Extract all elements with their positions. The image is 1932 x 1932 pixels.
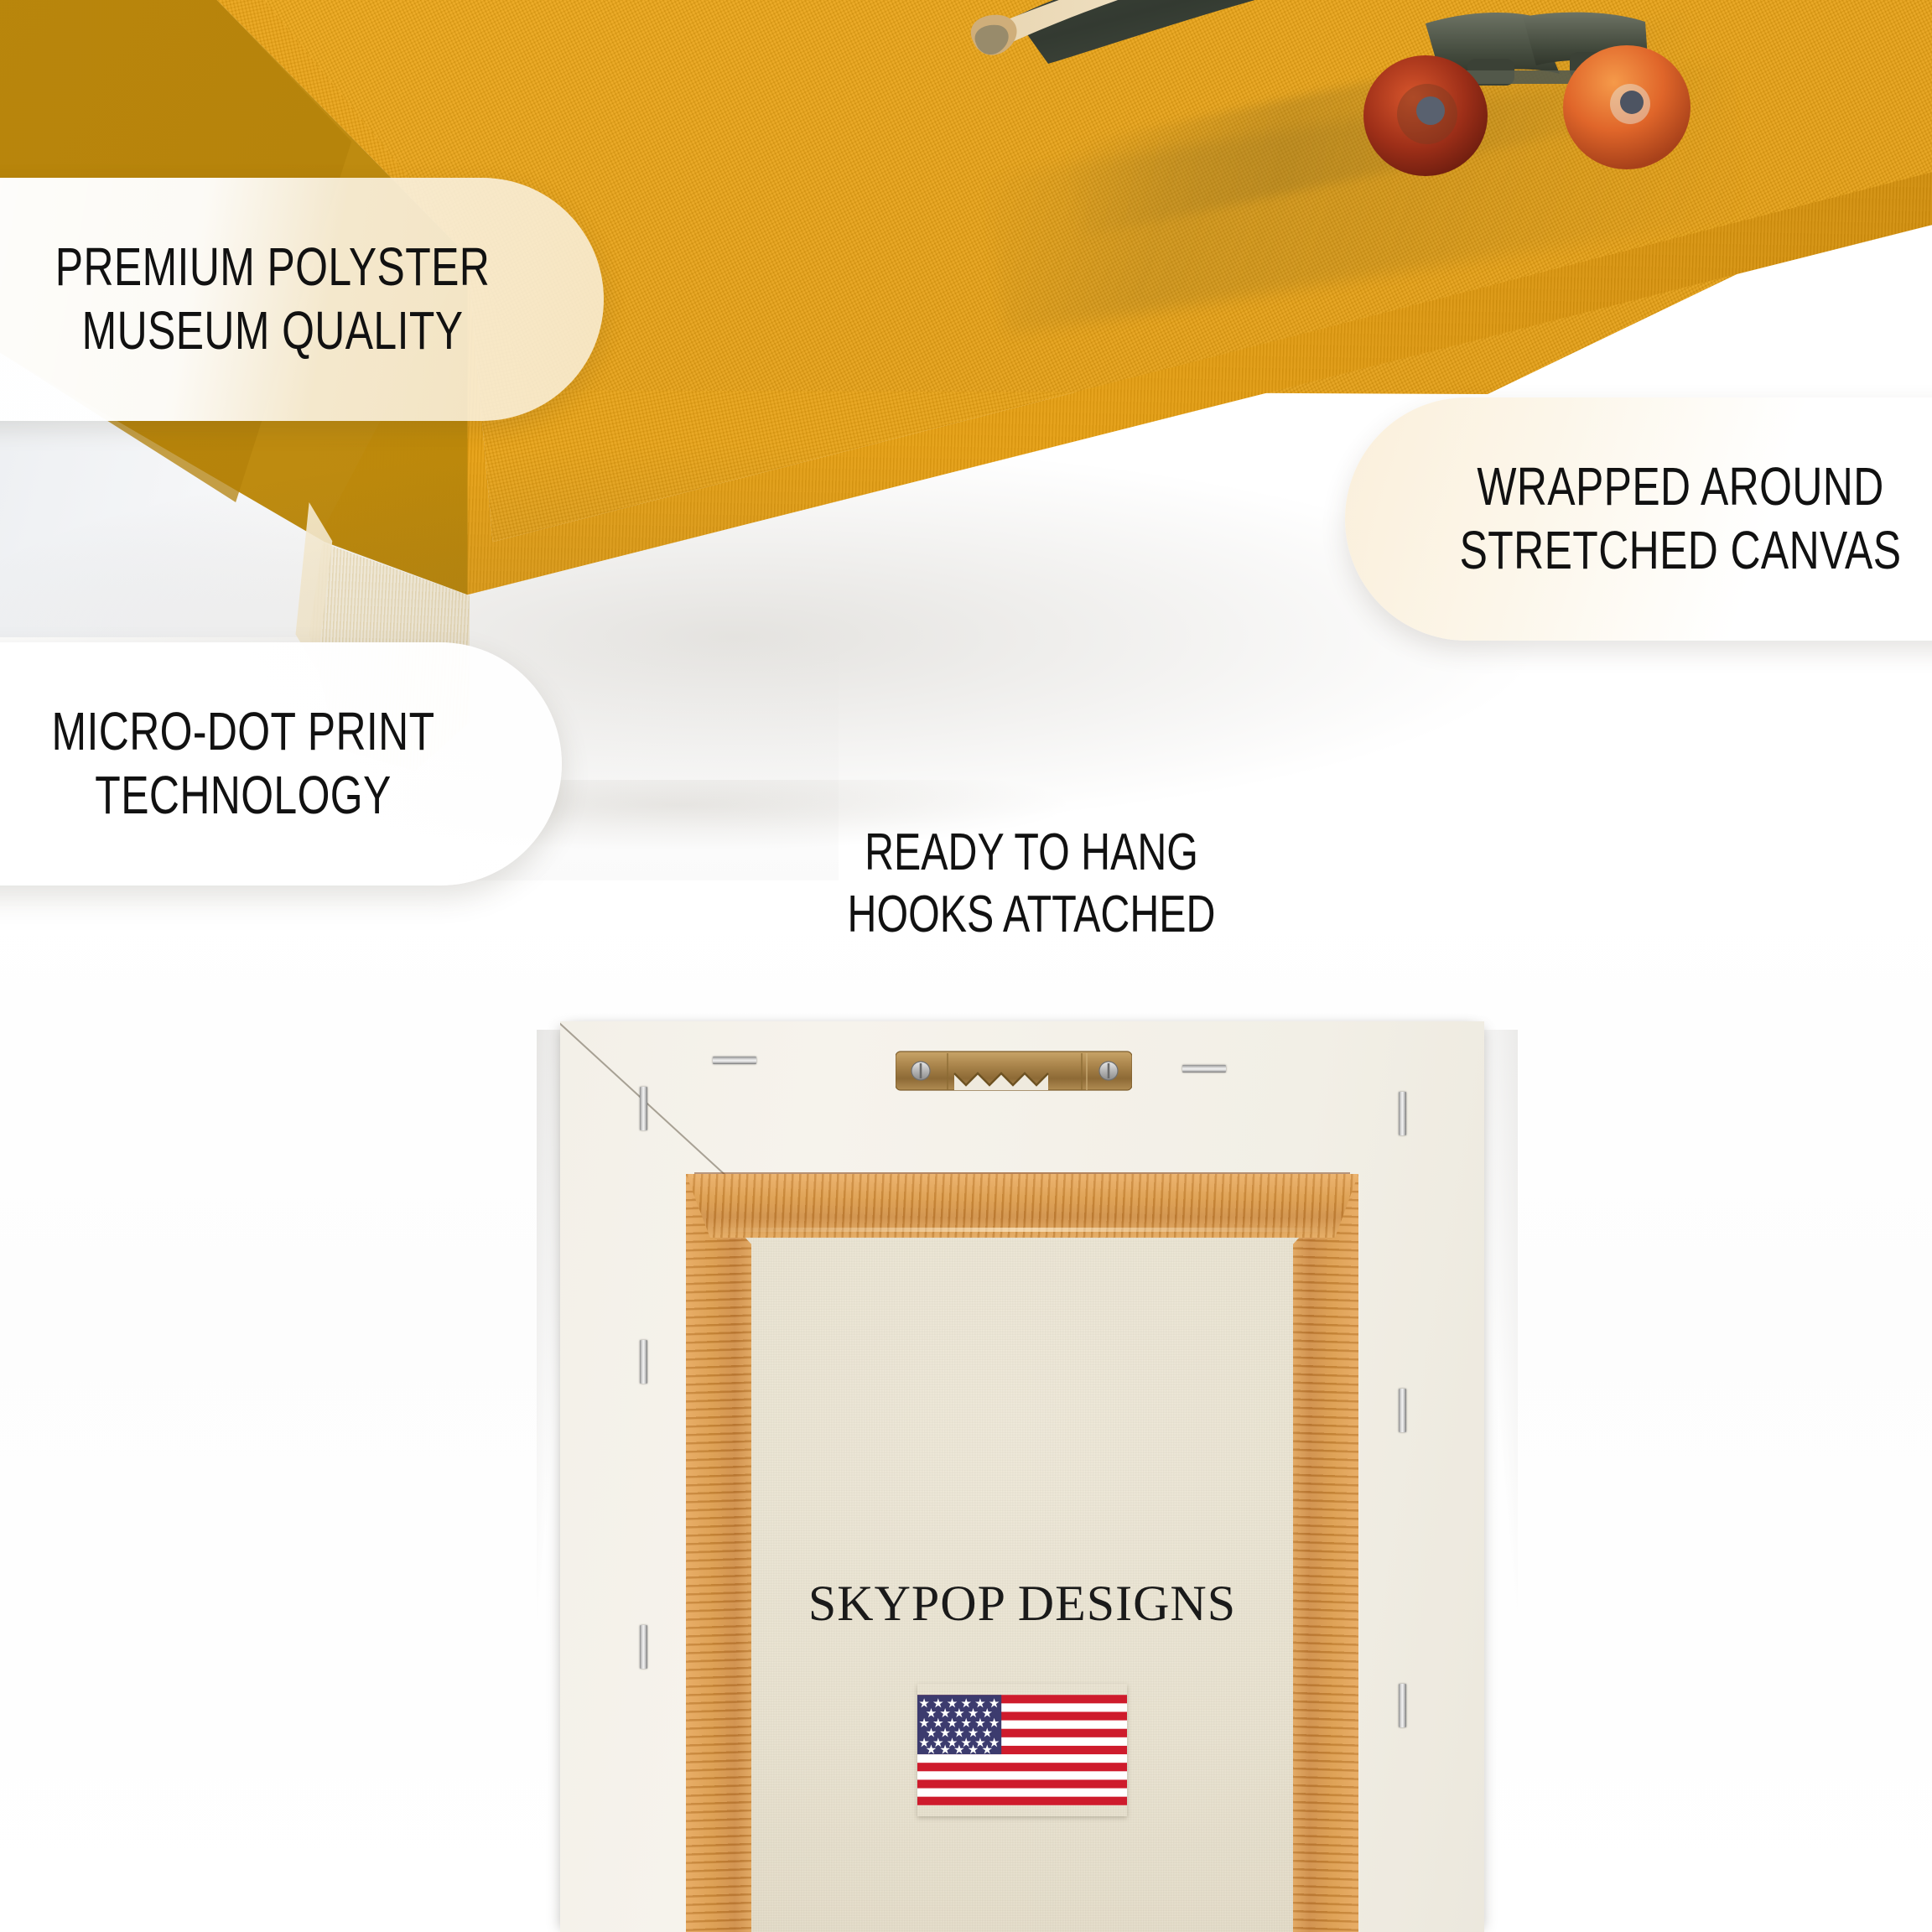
feature-callout-premium-polyster[interactable]: PREMIUM POLYSTER MUSEUM QUALITY xyxy=(0,178,604,421)
ready-to-hang-line-1: READY TO HANG xyxy=(816,822,1248,884)
feature-line-2: MUSEUM QUALITY xyxy=(40,299,505,363)
feature-callout-micro-dot-print[interactable]: MICRO-DOT PRINT TECHNOLOGY xyxy=(0,642,562,885)
feature-callout-wrapped-around[interactable]: WRAPPED AROUND STRETCHED CANVAS xyxy=(1345,397,1932,641)
stretcher-bar-top-highlight xyxy=(716,1228,1328,1232)
staple-right-3 xyxy=(1399,1684,1406,1727)
brand-name: SKYPOP DESIGNS xyxy=(560,1575,1484,1633)
stretcher-bar-left xyxy=(686,1174,751,1932)
sawtooth-hanger-icon xyxy=(896,1045,1132,1097)
staple-right-2 xyxy=(1399,1389,1406,1432)
staple-left-2 xyxy=(640,1340,647,1384)
canvas-back-surface xyxy=(708,1189,1337,1932)
feature-line-1: MICRO-DOT PRINT xyxy=(21,700,465,764)
staple-right-1 xyxy=(1399,1092,1406,1135)
infographic-canvas: PREMIUM POLYSTER MUSEUM QUALITY WRAPPED … xyxy=(0,0,1932,1932)
ready-to-hang-line-2: HOOKS ATTACHED xyxy=(816,884,1248,946)
skateboard-artwork xyxy=(889,0,1727,243)
staple-left-1 xyxy=(640,1087,647,1130)
ready-to-hang-label: READY TO HANG HOOKS ATTACHED xyxy=(755,822,1308,947)
feature-line-2: STRETCHED CANVAS xyxy=(1449,519,1912,583)
feature-line-1: PREMIUM POLYSTER xyxy=(40,236,505,299)
stretcher-bar-right xyxy=(1293,1174,1358,1932)
canvas-back-product: SKYPOP DESIGNS xyxy=(560,1021,1484,1932)
feature-line-1: WRAPPED AROUND xyxy=(1449,455,1912,519)
us-flag-icon xyxy=(917,1684,1127,1816)
feature-line-2: TECHNOLOGY xyxy=(21,764,465,828)
staple-top-left xyxy=(713,1057,756,1064)
staple-top-right xyxy=(1182,1065,1226,1072)
